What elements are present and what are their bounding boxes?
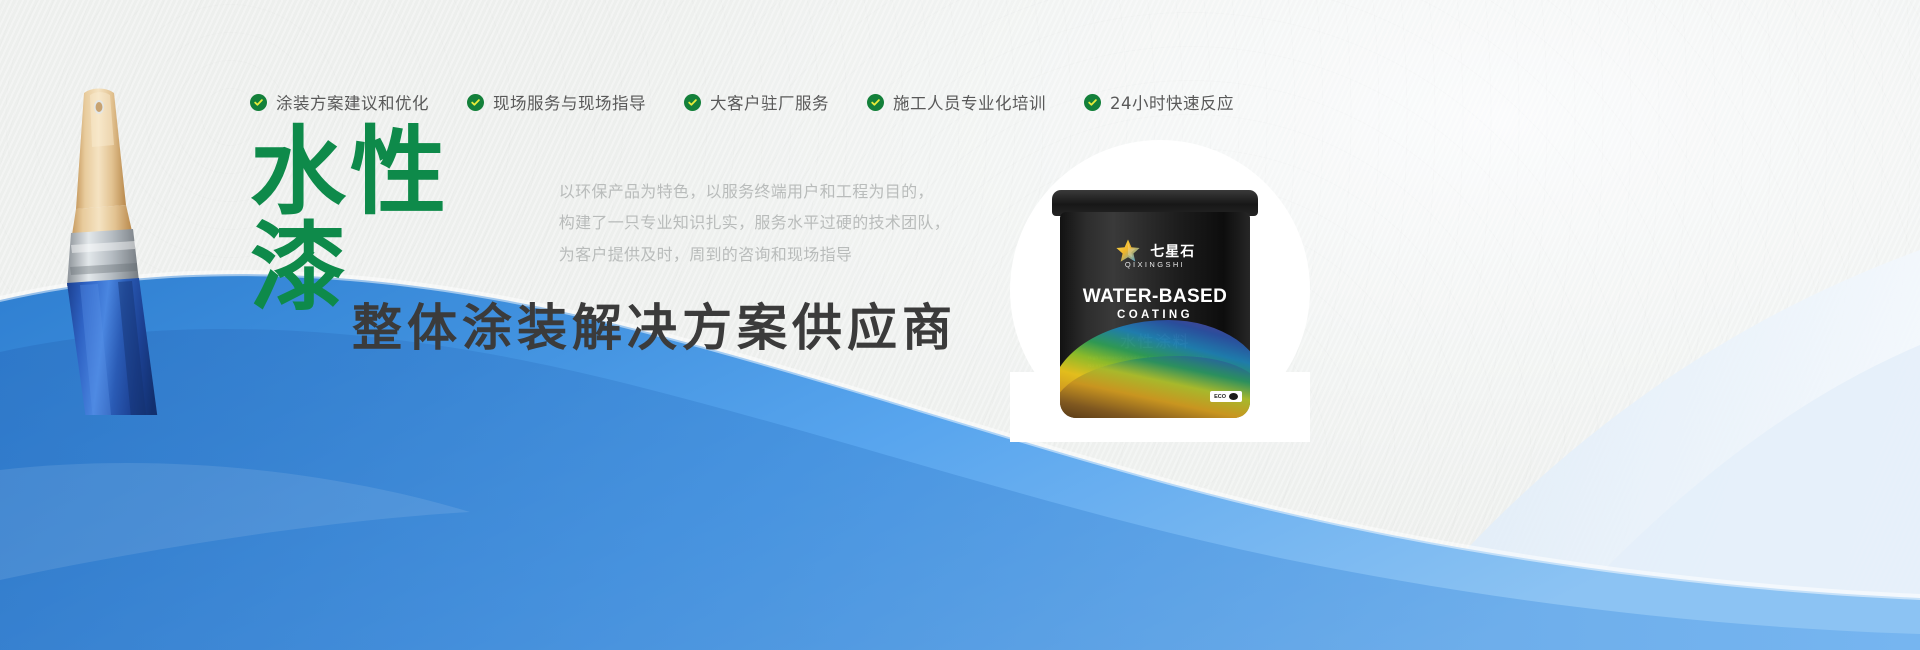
paragraph-line-2: 为客户提供及时，周到的咨询和现场指导 bbox=[559, 239, 950, 270]
promo-banner: 涂装方案建议和优化 现场服务与现场指导 大客户驻厂服务 bbox=[0, 0, 1920, 650]
check-circle-icon bbox=[684, 94, 701, 111]
paragraph-line-1: 构建了一只专业知识扎实，服务水平过硬的技术团队， bbox=[559, 207, 950, 238]
feature-list: 涂装方案建议和优化 现场服务与现场指导 大客户驻厂服务 bbox=[250, 86, 1350, 118]
feature-item-4: 24小时快速反应 bbox=[1084, 90, 1234, 114]
eco-label: ECO bbox=[1214, 394, 1226, 400]
feature-item-2: 大客户驻厂服务 bbox=[684, 90, 829, 114]
check-circle-icon bbox=[467, 94, 484, 111]
check-circle-icon bbox=[1084, 94, 1101, 111]
feature-label-3: 施工人员专业化培训 bbox=[893, 90, 1046, 114]
headline-paragraph: 以环保产品为特色，以服务终端用户和工程为目的， 构建了一只专业知识扎实，服务水平… bbox=[559, 176, 950, 270]
headline-block: 水性漆 以环保产品为特色，以服务终端用户和工程为目的， 构建了一只专业知识扎实，… bbox=[250, 160, 950, 280]
eco-badge: ECO bbox=[1210, 391, 1242, 402]
feature-label-2: 大客户驻厂服务 bbox=[710, 90, 829, 114]
feature-label-4: 24小时快速反应 bbox=[1110, 90, 1234, 114]
product-subtitle-en: COATING bbox=[1060, 309, 1250, 321]
feature-item-3: 施工人员专业化培训 bbox=[867, 90, 1046, 114]
check-circle-icon bbox=[250, 94, 267, 111]
feature-label-0: 涂装方案建议和优化 bbox=[276, 90, 429, 114]
paint-bucket-product: 七星石 QIXINGSHI WATER-BASED COATING 水性涂料 H… bbox=[1040, 190, 1270, 425]
product-title-en: WATER-BASED bbox=[1060, 286, 1250, 308]
check-circle-icon bbox=[867, 94, 884, 111]
feature-label-1: 现场服务与现场指导 bbox=[493, 90, 646, 114]
subheadline: 整体涂装解决方案供应商 bbox=[352, 288, 957, 360]
feature-item-1: 现场服务与现场指导 bbox=[467, 90, 646, 114]
eco-dot-icon bbox=[1229, 393, 1238, 400]
feature-item-0: 涂装方案建议和优化 bbox=[250, 90, 429, 114]
paint-brush-icon bbox=[40, 85, 220, 415]
paragraph-line-0: 以环保产品为特色，以服务终端用户和工程为目的， bbox=[559, 176, 950, 207]
